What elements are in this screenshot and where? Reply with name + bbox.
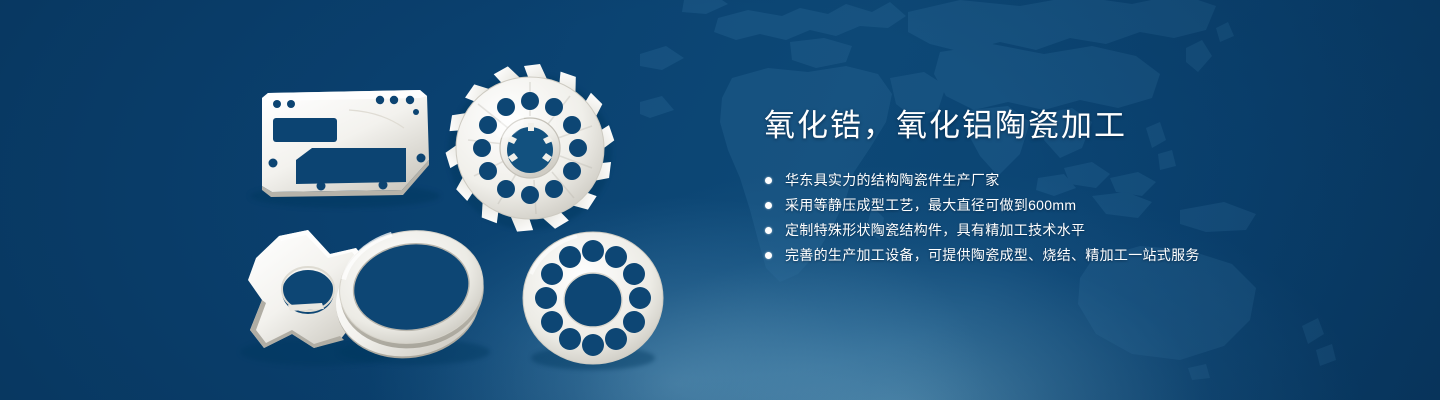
hero-banner: 氧化锆，氧化铝陶瓷加工 华东具实力的结构陶瓷件生产厂家 采用等静压成型工艺，最大… xyxy=(0,0,1440,400)
bullet-dot-icon xyxy=(765,177,772,184)
feature-text: 采用等静压成型工艺，最大直径可做到600mm xyxy=(785,197,1076,213)
feature-text: 完善的生产加工设备，可提供陶瓷成型、烧结、精加工一站式服务 xyxy=(785,247,1200,263)
feature-text: 定制特殊形状陶瓷结构件，具有精加工技术水平 xyxy=(785,222,1085,238)
banner-copy: 氧化锆，氧化铝陶瓷加工 华东具实力的结构陶瓷件生产厂家 采用等静压成型工艺，最大… xyxy=(764,104,1384,268)
banner-feature-list: 华东具实力的结构陶瓷件生产厂家 采用等静压成型工艺，最大直径可做到600mm 定… xyxy=(764,168,1384,268)
part-perforated-disc xyxy=(523,232,663,370)
bullet-dot-icon xyxy=(765,252,772,259)
ceramic-products-photo xyxy=(0,0,720,400)
part-impeller-wheel xyxy=(443,62,616,234)
feature-item: 定制特殊形状陶瓷结构件，具有精加工技术水平 xyxy=(764,218,1384,243)
banner-headline: 氧化锆，氧化铝陶瓷加工 xyxy=(764,104,1384,148)
part-ceramic-rings xyxy=(329,222,491,368)
bullet-dot-icon xyxy=(765,227,772,234)
feature-text: 华东具实力的结构陶瓷件生产厂家 xyxy=(785,172,1000,188)
feature-item: 采用等静压成型工艺，最大直径可做到600mm xyxy=(764,193,1384,218)
feature-item: 华东具实力的结构陶瓷件生产厂家 xyxy=(764,168,1384,193)
part-flat-plate xyxy=(250,90,440,208)
feature-item: 完善的生产加工设备，可提供陶瓷成型、烧结、精加工一站式服务 xyxy=(764,243,1384,268)
bullet-dot-icon xyxy=(765,202,772,209)
